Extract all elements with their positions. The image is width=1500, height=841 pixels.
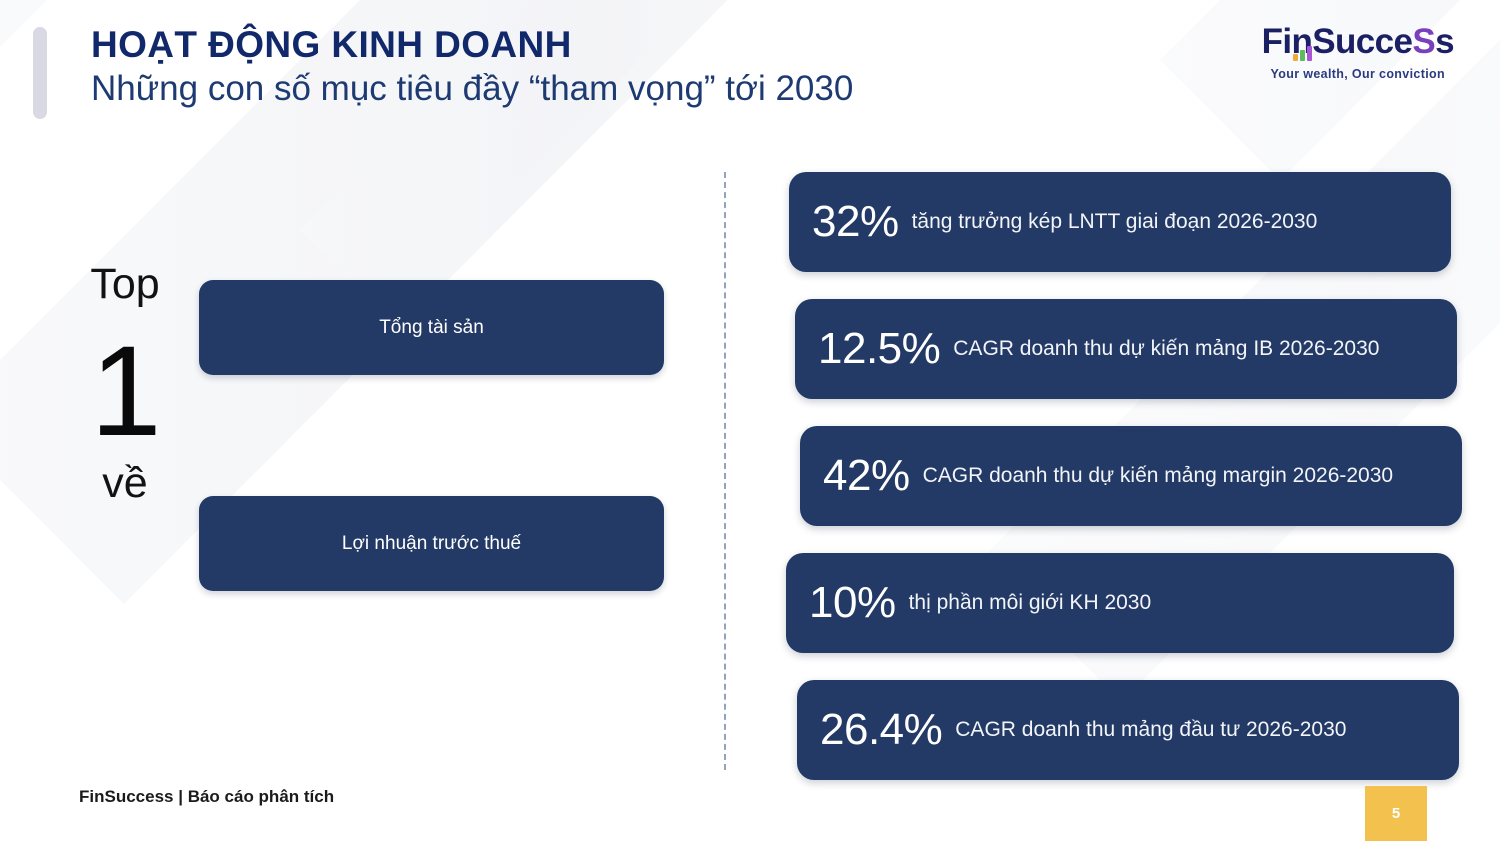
top-rank-suffix: về [55, 462, 195, 505]
target-value: 42% [823, 454, 910, 498]
target-value: 32% [812, 200, 899, 244]
metric-box-label: Lợi nhuận trước thuế [342, 533, 521, 555]
logo-wordmark: FinSucceSs [1262, 24, 1454, 59]
logo-wordmark-part1: FinSucce [1262, 22, 1413, 61]
footer-text: FinSuccess | Báo cáo phân tích [79, 787, 334, 807]
page-subtitle: Những con số mục tiêu đầy “tham vọng” tớ… [91, 68, 853, 111]
slide-header: HOẠT ĐỘNG KINH DOANH Những con số mục ti… [0, 0, 1500, 140]
metric-box-profit-before-tax[interactable]: Lợi nhuận trước thuế [199, 496, 664, 591]
vertical-dashed-divider [724, 172, 726, 770]
top-rank-number: 1 [55, 328, 195, 456]
target-value: 26.4% [820, 708, 942, 752]
metric-box-total-assets[interactable]: Tổng tài sản [199, 280, 664, 375]
page-number-badge: 5 [1365, 786, 1427, 841]
metric-box-label: Tổng tài sản [379, 317, 484, 339]
finsuccess-logo: FinSucceSs Your wealth, Our conviction [1262, 24, 1454, 81]
target-description: CAGR doanh thu dự kiến mảng IB 2026-2030 [953, 337, 1379, 361]
target-card[interactable]: 12.5% CAGR doanh thu dự kiến mảng IB 202… [795, 299, 1457, 399]
target-description: tăng trưởng kép LNTT giai đoạn 2026-2030 [912, 210, 1318, 234]
top-rank-block: Top 1 về [55, 263, 195, 505]
page-title: HOẠT ĐỘNG KINH DOANH [91, 24, 853, 65]
logo-wordmark-part2: s [1435, 22, 1454, 61]
target-description: CAGR doanh thu mảng đầu tư 2026-2030 [955, 718, 1346, 742]
logo-bar-chart-icon [1293, 46, 1312, 61]
left-column: Top 1 về Tổng tài sản Lợi nhuận trước th… [0, 170, 700, 770]
slide-canvas: HOẠT ĐỘNG KINH DOANH Những con số mục ti… [0, 0, 1500, 841]
logo-wordmark-accent: S [1412, 22, 1435, 61]
title-block: HOẠT ĐỘNG KINH DOANH Những con số mục ti… [91, 24, 853, 111]
target-description: CAGR doanh thu dự kiến mảng margin 2026-… [923, 464, 1394, 488]
top-rank-label: Top [55, 263, 195, 306]
target-value: 12.5% [818, 327, 940, 371]
page-number: 5 [1392, 805, 1400, 822]
target-card[interactable]: 42% CAGR doanh thu dự kiến mảng margin 2… [800, 426, 1462, 526]
target-card[interactable]: 10% thị phần môi giới KH 2030 [786, 553, 1454, 653]
logo-tagline: Your wealth, Our conviction [1262, 67, 1454, 81]
target-card[interactable]: 26.4% CAGR doanh thu mảng đầu tư 2026-20… [797, 680, 1459, 780]
target-card[interactable]: 32% tăng trưởng kép LNTT giai đoạn 2026-… [789, 172, 1451, 272]
target-description: thị phần môi giới KH 2030 [909, 591, 1152, 615]
target-value: 10% [809, 581, 896, 625]
title-accent-bar [33, 27, 47, 119]
